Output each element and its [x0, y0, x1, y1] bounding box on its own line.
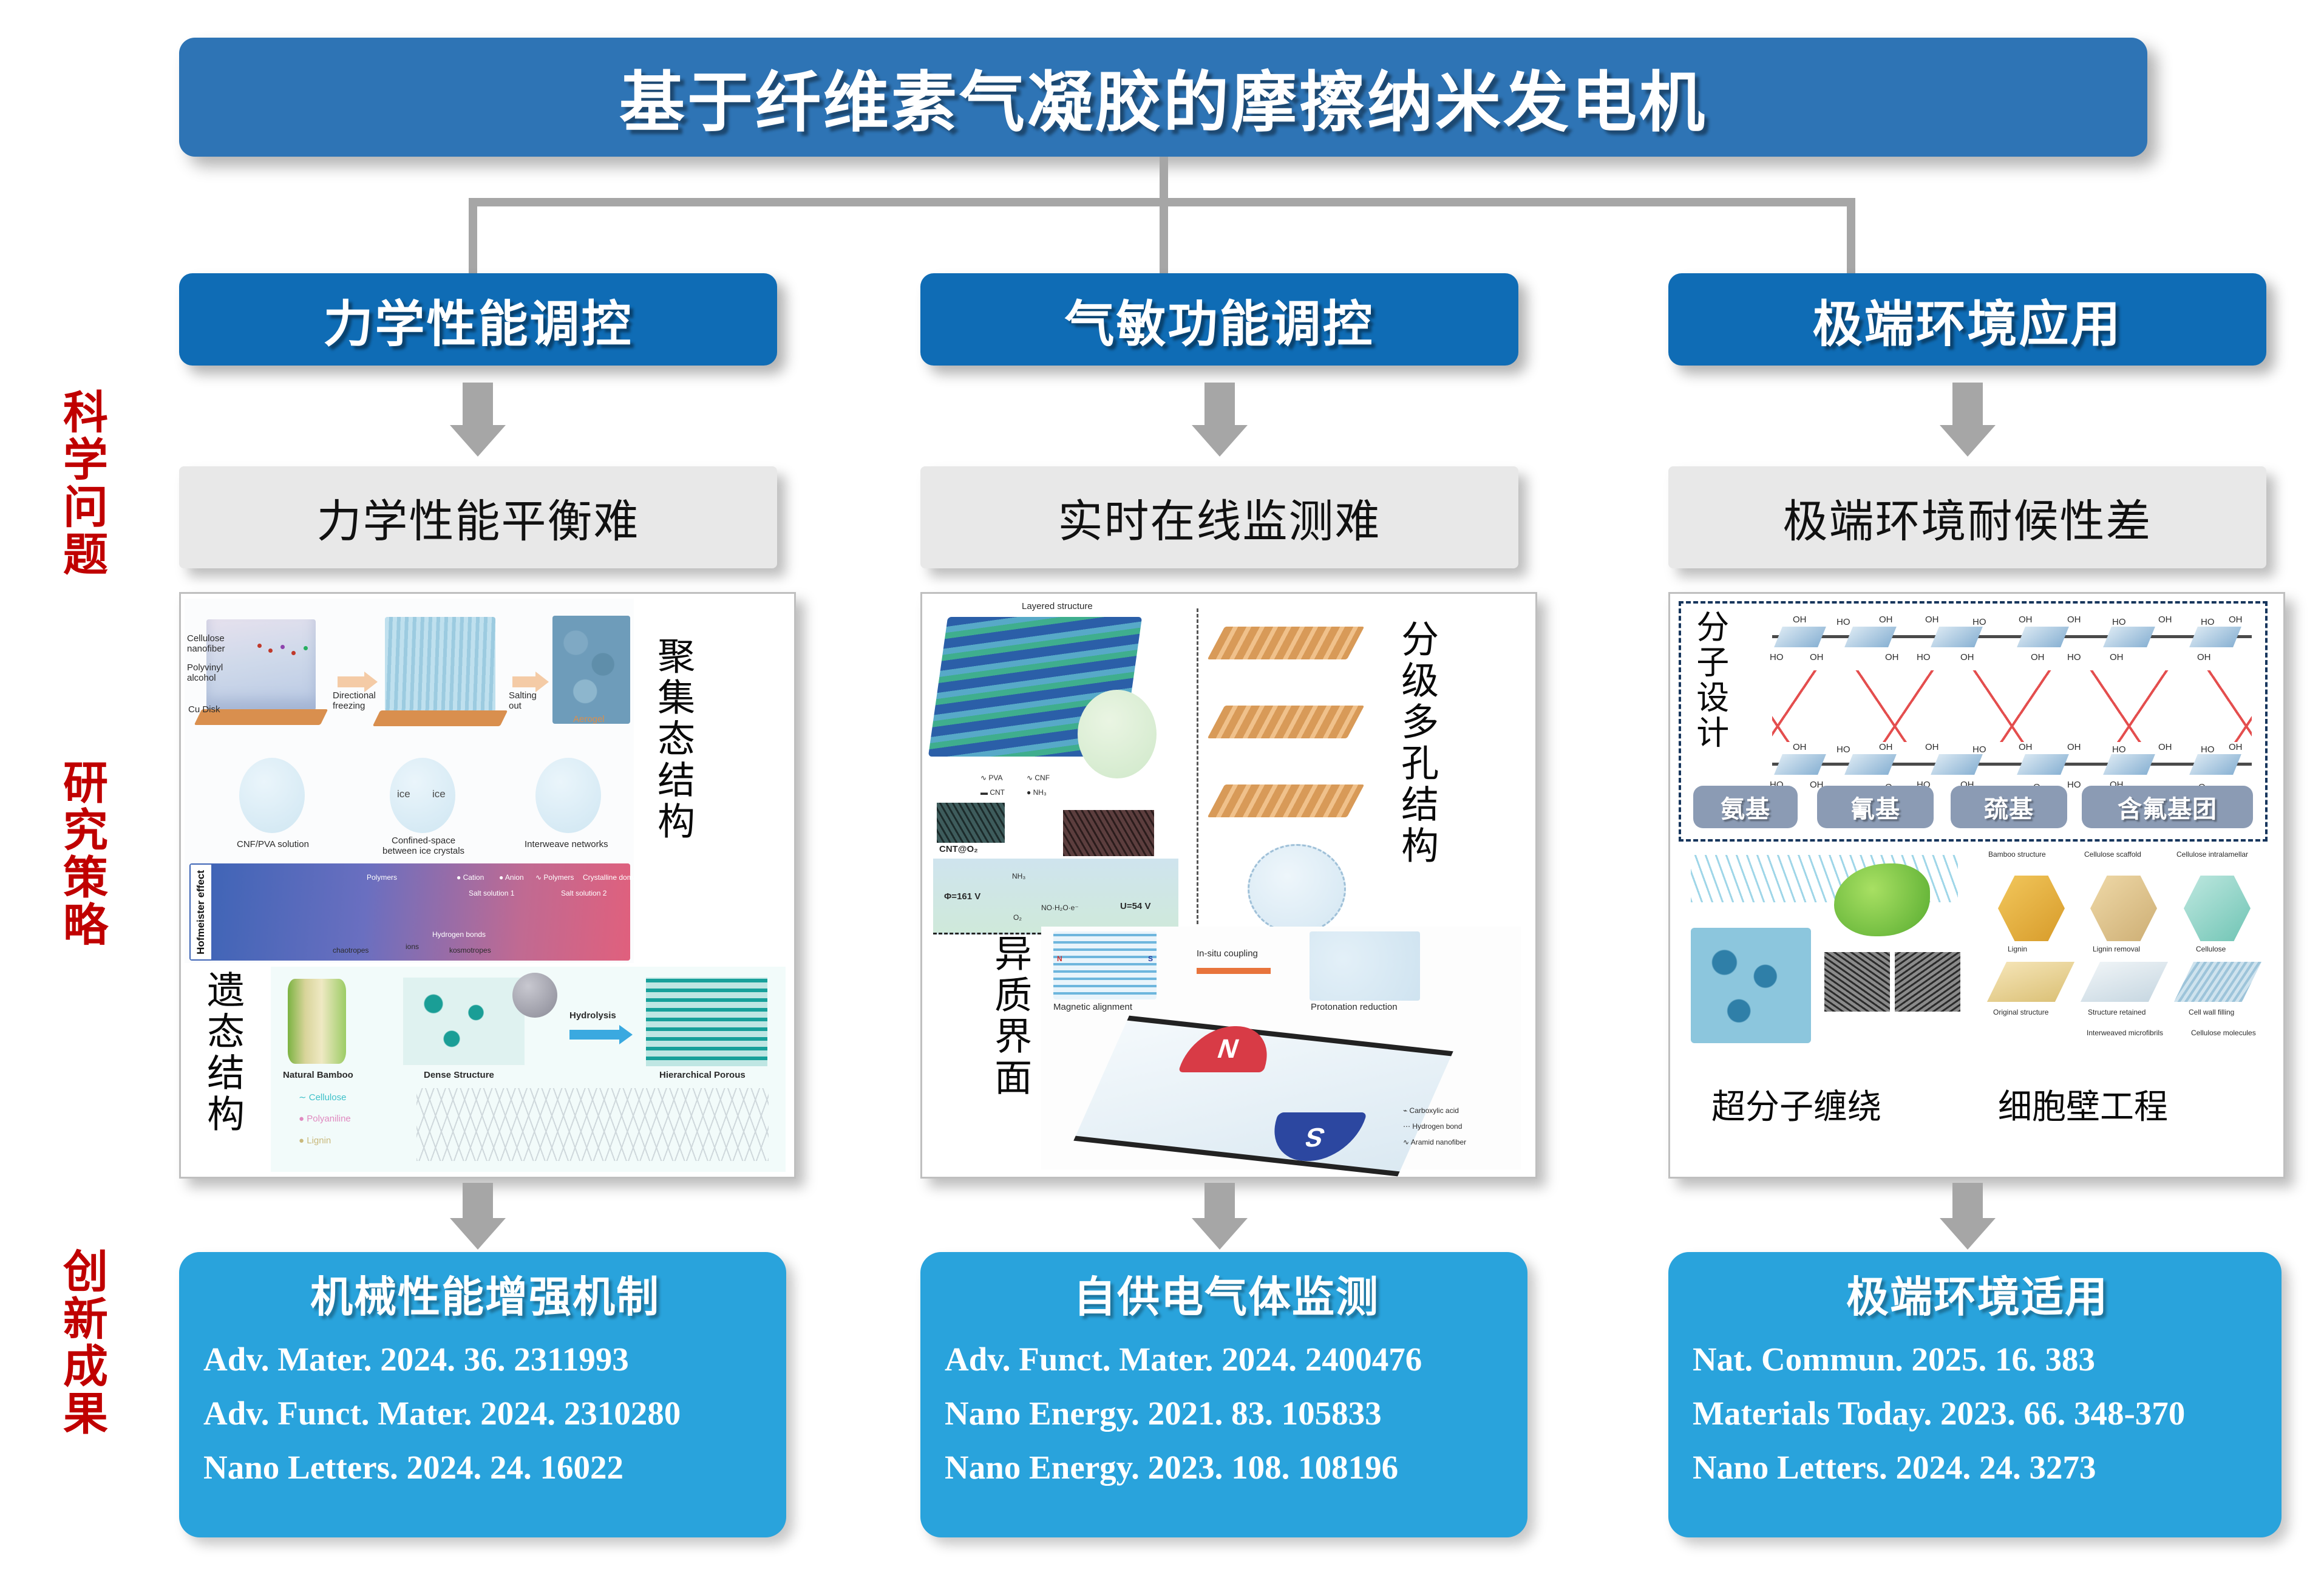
arrow-head-col3-bottom	[1940, 1218, 1996, 1250]
problem-box-2-text: 实时在线监测难	[1058, 485, 1381, 550]
hydrogen-bond-network	[1772, 670, 2252, 742]
connector-trunk-vertical	[1160, 157, 1168, 198]
label-oh: OH	[1925, 614, 1939, 625]
citation-1-2: Adv. Funct. Mater. 2024. 2310280	[203, 1394, 770, 1432]
label-hydrogen-bonds: Hydrogen bonds	[432, 930, 486, 939]
arrow-head-col2-top	[1192, 425, 1248, 457]
label-u-value: U=54 V	[1120, 901, 1150, 911]
illustration-sem-micrograph-a	[1824, 952, 1890, 1012]
label-oh: OH	[1885, 652, 1899, 662]
strategy-caption-2b: 异质界面	[990, 934, 1030, 1099]
label-oh: OH	[2019, 614, 2033, 625]
label-lignin: Lignin	[2008, 945, 2027, 953]
label-oh: OH	[2229, 742, 2243, 752]
label-dense-structure: Dense Structure	[424, 1070, 494, 1080]
legend-polyaniline: ● Polyaniline	[299, 1114, 351, 1124]
illustration-hexagon-teal	[2184, 876, 2251, 941]
label-cellulose: Cellulose	[2196, 945, 2226, 953]
legend-lignin: ● Lignin	[299, 1135, 331, 1146]
problem-box-2: 实时在线监测难	[920, 466, 1518, 568]
label-magnetic-alignment: Magnetic alignment	[1053, 1002, 1132, 1012]
label-directional-freezing: Directionalfreezing	[333, 691, 376, 711]
label-magnet-n-small: N	[1057, 955, 1062, 963]
legend-polymers: ∿ Polymers	[535, 873, 574, 882]
chip-thiol[interactable]: 巯基	[1951, 786, 2067, 828]
citation-1-1: Adv. Mater. 2024. 36. 2311993	[203, 1340, 770, 1378]
arrow-head-col1-bottom	[450, 1218, 506, 1250]
citation-2-2: Nano Energy. 2021. 83. 105833	[945, 1394, 1512, 1432]
outcome-box-2: 自供电气体监测 Adv. Funct. Mater. 2024. 2400476…	[920, 1252, 1527, 1537]
label-hierarchical-porous: Hierarchical Porous	[659, 1070, 746, 1080]
strategy-caption-1a: 聚集态结构	[653, 636, 693, 843]
figure-layered-structure: Layered structure ∿ PVA ∿ CNF ▬ CNT ● NH…	[926, 599, 1193, 939]
illustration-cu-disk-2	[373, 710, 508, 726]
arrow-head-col1-top	[450, 425, 506, 457]
inset-protonation-reduction	[1310, 931, 1420, 1001]
inset-circle-gas-sensing	[1248, 844, 1346, 934]
figure-heterointerface: Magnetic alignment N S In-situ coupling …	[1041, 927, 1521, 1169]
strategy-caption-3a: 分子设计	[1692, 610, 1727, 750]
label-o2-level: O₂	[1013, 913, 1022, 922]
illustration-sheet-filled	[2174, 962, 2261, 1002]
side-label-research-strategy: 研究策略	[58, 759, 104, 948]
molecule-dot	[304, 646, 308, 650]
label-oh: OH	[2197, 652, 2211, 662]
label-ho: HO	[2112, 617, 2126, 627]
label-ho: HO	[2067, 652, 2081, 662]
label-cellulose-molecules: Cellulose molecules	[2191, 1029, 2256, 1037]
citation-2-1: Adv. Funct. Mater. 2024. 2400476	[945, 1340, 1512, 1378]
label-ho: HO	[1770, 652, 1784, 662]
label-ho: HO	[2201, 617, 2215, 627]
coupling-double-arrow	[1197, 968, 1271, 974]
figure-cell-wall-engineering: Bamboo structure Cellulose scaffold Cell…	[1983, 849, 2272, 1049]
problem-box-3: 极端环境耐候性差	[1668, 466, 2266, 568]
legend-cation: ● Cation	[457, 873, 484, 882]
label-no-h2o-e: NO·H₂O·e⁻	[1041, 904, 1079, 912]
label-interweave-networks: Interweave networks	[525, 839, 608, 849]
label-ho: HO	[2067, 780, 2081, 790]
illustration-sem-micrograph-b	[1895, 952, 1960, 1012]
strategy-panel-2: Layered structure ∿ PVA ∿ CNF ▬ CNT ● NH…	[920, 592, 1537, 1179]
legend-hydrogen-bond: ⋯ Hydrogen bond	[1403, 1122, 1462, 1131]
problem-box-1-text: 力学性能平衡难	[317, 485, 640, 550]
arrow-stem-col1-top	[463, 383, 493, 425]
label-cu-disk: Cu Disk	[188, 704, 220, 715]
outcome-box-3: 极端环境适用 Nat. Commun. 2025. 16. 383 Materi…	[1668, 1252, 2282, 1537]
illustration-cnt-o2-mesh	[937, 803, 1005, 843]
legend-nh3: ● NH₃	[1027, 788, 1047, 797]
label-chaotropes: chaotropes	[333, 946, 369, 955]
problem-box-3-text: 极端环境耐候性差	[1783, 485, 2152, 550]
outcome-title-2: 自供电气体监测	[941, 1263, 1512, 1324]
label-ho: HO	[2201, 744, 2215, 755]
label-oh: OH	[1793, 742, 1807, 752]
main-title-text: 基于纤维素气凝胶的摩擦纳米发电机	[619, 50, 1707, 145]
label-ho: HO	[1836, 744, 1850, 755]
illustration-hierarchical-porous	[646, 978, 767, 1066]
label-aerogel: Aerogel	[573, 714, 605, 724]
molecule-dot	[268, 648, 273, 653]
connector-drop-col1	[469, 198, 477, 273]
label-in-situ-coupling: In-situ coupling	[1197, 948, 1258, 959]
label-oh: OH	[2067, 742, 2081, 752]
label-protonation-reduction: Protonation reduction	[1311, 1002, 1398, 1012]
label-cell-wall-filling: Cell wall filling	[2189, 1008, 2234, 1016]
strategy-panel-1: Cellulosenanofiber Polyvinylalcohol Cu D…	[179, 592, 796, 1179]
arrow-stem-col3-top	[1952, 383, 1983, 425]
illustration-sheet-original	[1987, 962, 2074, 1002]
label-magnet-s-small: S	[1148, 955, 1153, 963]
label-oh: OH	[2158, 614, 2172, 625]
label-cellulose-scaffold: Cellulose scaffold	[2084, 850, 2141, 859]
label-cnf-pva-solution: CNF/PVA solution	[237, 839, 309, 849]
citation-1-3: Nano Letters. 2024. 24. 16022	[203, 1448, 770, 1486]
label-ho: HO	[2112, 744, 2126, 755]
inset-magnetic-alignment	[1053, 931, 1157, 999]
process-arrow-freezing	[338, 676, 365, 687]
legend-cnf: ∿ CNF	[1027, 774, 1050, 782]
citation-3-2: Materials Today. 2023. 66. 348-370	[1693, 1394, 2266, 1432]
figure-porous-sheets	[1208, 602, 1385, 936]
label-natural-bamboo: Natural Bamboo	[283, 1070, 353, 1080]
panel2-divider	[1197, 608, 1200, 924]
label-ions: ions	[406, 942, 419, 951]
label-salting-out: Saltingout	[509, 691, 537, 711]
molecular-design-box: 分子设计 OH HO OH OH HO OH OH HO OH HO OH HO…	[1679, 601, 2268, 842]
label-polymers-arrow: Polymers	[367, 873, 397, 882]
label-hofmeister-effect: Hofmeister effect	[192, 866, 210, 958]
column-header-3-text: 极端环境应用	[1812, 284, 2122, 356]
label-cnt-o2: CNT@O₂	[939, 844, 978, 854]
column-header-2[interactable]: 气敏功能调控	[920, 273, 1518, 366]
illustration-polymer-chain	[416, 1088, 769, 1161]
arrow-head-col2-bottom	[1192, 1218, 1248, 1250]
porous-sheet-bottom	[1208, 784, 1365, 817]
connector-drop-col3	[1847, 198, 1855, 273]
label-oh: OH	[1793, 614, 1807, 625]
label-original-structure: Original structure	[1993, 1008, 2048, 1016]
legend-crystalline-domain: Crystalline domain	[583, 873, 643, 882]
molecule-dot	[257, 644, 262, 648]
label-ho: HO	[1972, 617, 1986, 627]
label-oh: OH	[2158, 742, 2172, 752]
legend-aramid-nanofiber: ∿ Aramid nanofiber	[1403, 1138, 1466, 1146]
label-oh: OH	[2019, 742, 2033, 752]
main-title-banner: 基于纤维素气凝胶的摩擦纳米发电机	[179, 38, 2147, 157]
label-interweaved-microfibrils: Interweaved microfibrils	[2087, 1029, 2163, 1037]
label-hydrolysis: Hydrolysis	[569, 1010, 616, 1021]
label-nh3-level: NH₃	[1012, 872, 1025, 880]
label-oh: OH	[1810, 652, 1824, 662]
label-ho: HO	[1972, 744, 1986, 755]
chip-cyano[interactable]: 氰基	[1817, 786, 1934, 828]
arrow-stem-col2-bottom	[1204, 1183, 1235, 1218]
outcome-box-1: 机械性能增强机制 Adv. Mater. 2024. 36. 2311993 A…	[179, 1252, 786, 1537]
label-oh: OH	[2067, 614, 2081, 625]
hydrolysis-arrow	[569, 1030, 620, 1040]
label-structure-retained: Structure retained	[2088, 1008, 2146, 1016]
label-oh: OH	[2031, 652, 2045, 662]
chip-fluorinated-group[interactable]: 含氟基团	[2082, 786, 2253, 828]
column-header-1[interactable]: 力学性能调控	[179, 273, 777, 366]
label-ho: HO	[1836, 617, 1850, 627]
label-layered-structure: Layered structure	[1022, 601, 1093, 611]
illustration-hexagon-tan	[2090, 876, 2157, 941]
arrow-head-col3-top	[1940, 425, 1996, 457]
legend-pva: ∿ PVA	[980, 774, 1003, 782]
label-polyvinyl-alcohol: Polyvinylalcohol	[187, 663, 223, 683]
strategy-caption-2a: 分级多孔结构	[1397, 619, 1436, 867]
outcome-title-1: 机械性能增强机制	[200, 1263, 770, 1324]
illustration-aerogel-foam	[1691, 928, 1811, 1043]
inset-circle-interweave	[535, 758, 601, 833]
label-bamboo-structure: Bamboo structure	[1988, 850, 2046, 859]
figure-supramolecular-entanglement	[1682, 849, 1974, 1049]
arrow-stem-col2-top	[1204, 383, 1235, 425]
outcome-title-3: 极端环境适用	[1689, 1263, 2266, 1324]
label-oh: OH	[1960, 652, 1974, 662]
cellulose-chain-upper: OH HO OH OH HO OH OH HO OH HO OH HO OH O…	[1772, 614, 2252, 670]
label-oh: OH	[1925, 742, 1939, 752]
label-oh: OH	[2229, 614, 2243, 625]
label-phi-value: Φ=161 V	[944, 891, 980, 902]
citation-3-3: Nano Letters. 2024. 24. 3273	[1693, 1448, 2266, 1486]
illustration-sheet-retained	[2081, 962, 2168, 1002]
side-label-scientific-problem: 科学问题	[58, 389, 104, 578]
illustration-dense-structure	[403, 978, 525, 1065]
bottom-caption-3b: 细胞壁工程	[1998, 1080, 2168, 1129]
illustration-cube-ice-columns	[385, 617, 495, 712]
column-header-2-text: 气敏功能调控	[1064, 284, 1374, 356]
label-confined-space: Confined-spacebetween ice crystals	[382, 836, 464, 857]
arrow-stem-col1-bottom	[463, 1183, 493, 1218]
problem-box-1: 力学性能平衡难	[179, 466, 777, 568]
molecule-dot	[280, 645, 285, 649]
chip-amino[interactable]: 氨基	[1693, 786, 1798, 828]
figure-cnf-pva-process: Cellulosenanofiber Polyvinylalcohol Cu D…	[185, 599, 634, 963]
arrow-stem-col3-bottom	[1952, 1183, 1983, 1218]
connector-drop-col2	[1160, 198, 1168, 273]
porous-sheet-top	[1208, 627, 1365, 659]
citation-3-1: Nat. Commun. 2025. 16. 383	[1693, 1340, 2266, 1378]
side-label-innovation-results: 创新成果	[58, 1248, 104, 1437]
illustration-bamboo-cylinder	[288, 979, 346, 1064]
legend-salt-solution-1: Salt solution 1	[469, 889, 514, 897]
label-ice-left: ice	[397, 788, 410, 800]
molecule-dot	[291, 651, 296, 655]
label-oh: OH	[1879, 614, 1893, 625]
inset-circle-cnt-dispersion	[1078, 690, 1157, 778]
process-arrow-salting-head	[535, 672, 549, 692]
inset-circle-cnf-pva	[239, 758, 305, 833]
label-lignin-removal: Lignin removal	[2093, 945, 2140, 953]
label-kosmotropes: kosmotropes	[449, 946, 491, 955]
column-header-1-text: 力学性能调控	[323, 284, 633, 356]
label-oh: OH	[2110, 652, 2124, 662]
label-ho: HO	[1917, 652, 1931, 662]
citation-2-3: Nano Energy. 2023. 108. 108196	[945, 1448, 1512, 1486]
legend-anion: ● Anion	[499, 873, 524, 882]
process-arrow-freezing-head	[364, 672, 378, 692]
illustration-cnt-nh2-mesh	[1063, 810, 1154, 856]
legend-salt-solution-2: Salt solution 2	[561, 889, 606, 897]
strategy-panel-3: 分子设计 OH HO OH OH HO OH OH HO OH HO OH HO…	[1668, 592, 2285, 1179]
illustration-cube-aerogel	[552, 616, 630, 724]
legend-cellulose: ∼ Cellulose	[299, 1092, 346, 1103]
figure-bamboo-hierarchical: Natural Bamboo Dense Structure Hydrolysi…	[271, 967, 786, 1172]
process-arrow-salting	[512, 676, 537, 687]
porous-sheet-mid	[1208, 706, 1365, 738]
legend-carboxylic-acid: ⌁ Carboxylic acid	[1403, 1106, 1459, 1115]
bottom-caption-3a: 超分子缠绕	[1711, 1080, 1881, 1129]
column-header-3[interactable]: 极端环境应用	[1668, 273, 2266, 366]
strategy-caption-1b: 遗态结构	[203, 970, 242, 1135]
hydrolysis-arrow-head	[619, 1025, 633, 1044]
label-cellulose-intralamellar: Cellulose intralamellar	[2176, 850, 2248, 859]
label-ice-right: ice	[432, 788, 446, 800]
illustration-hexagon-gold	[1998, 876, 2065, 941]
label-oh: OH	[1879, 742, 1893, 752]
label-cellulose-nanofiber: Cellulosenanofiber	[187, 634, 225, 654]
legend-cnt: ▬ CNT	[980, 788, 1005, 797]
illustration-particle-sphere	[512, 973, 557, 1018]
